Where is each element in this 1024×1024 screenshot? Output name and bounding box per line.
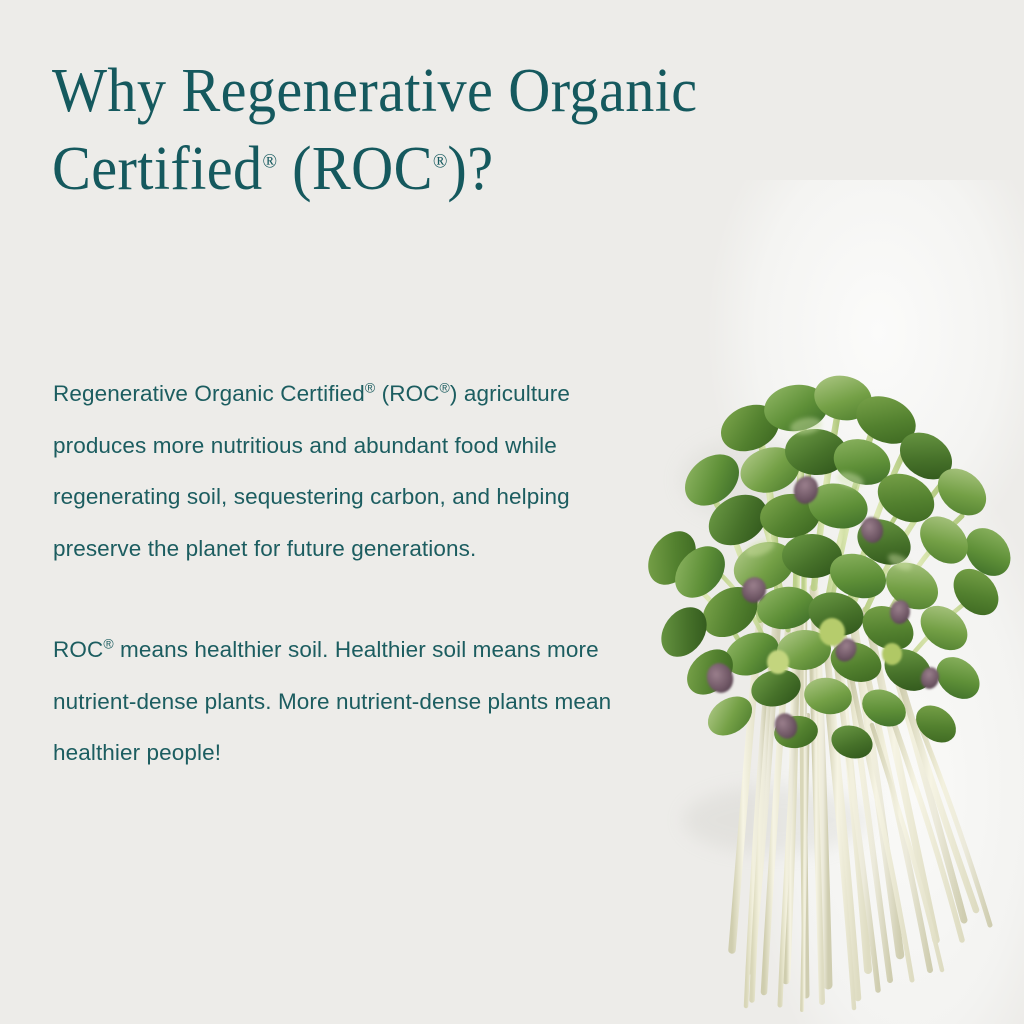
paragraph-about-roc: Regenerative Organic Certified® (ROC®) a… <box>53 368 663 574</box>
heading-line-2: Certified® (ROC®)? <box>52 135 493 203</box>
heading-certified-text: Certified <box>52 135 263 203</box>
p1-middle: (ROC <box>375 381 439 406</box>
page-title: Why Regenerative Organic Certified® (ROC… <box>52 52 879 208</box>
sprout-leaves <box>638 370 1019 763</box>
paragraph-healthier-soil: ROC® means healthier soil. Healthier soi… <box>53 624 663 779</box>
heading-roc-close: )? <box>447 135 493 203</box>
p2-prefix: ROC <box>53 637 103 662</box>
body-copy: Regenerative Organic Certified® (ROC®) a… <box>53 368 663 779</box>
registered-mark-icon: ® <box>433 150 448 172</box>
microgreens-photo <box>600 180 1024 1024</box>
heading-line-1: Why Regenerative Organic <box>52 57 698 125</box>
p2-suffix: means healthier soil. Healthier soil mea… <box>53 637 611 765</box>
p1-prefix: Regenerative Organic Certified <box>53 381 365 406</box>
registered-mark-icon: ® <box>365 380 375 396</box>
promotional-panel: Why Regenerative Organic Certified® (ROC… <box>0 0 1024 1024</box>
registered-mark-icon: ® <box>103 636 113 652</box>
registered-mark-icon: ® <box>263 150 278 172</box>
heading-roc-open: (ROC <box>277 135 433 203</box>
registered-mark-icon: ® <box>440 380 450 396</box>
p1-suffix: ) agriculture produces more nutritious a… <box>53 381 570 561</box>
microgreens-illustration <box>600 180 1024 1024</box>
